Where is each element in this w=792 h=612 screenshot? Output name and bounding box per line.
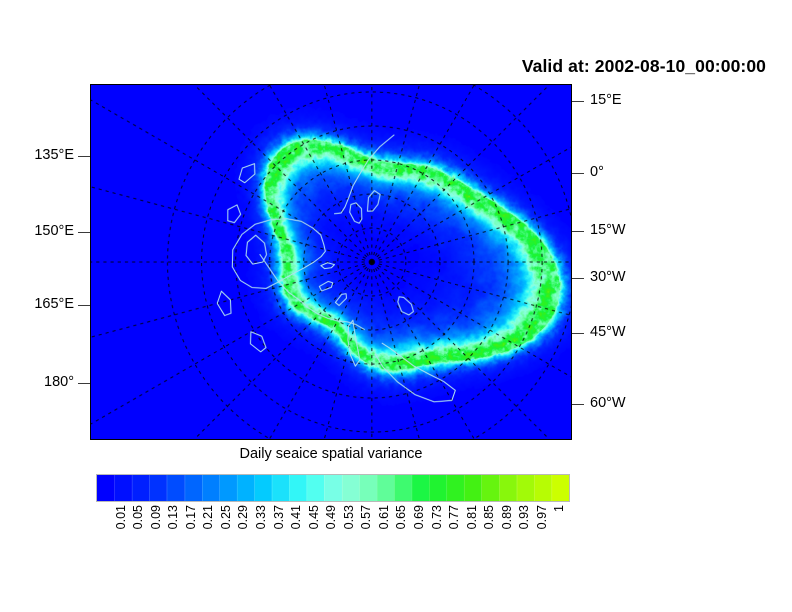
axis-tick-right-5	[572, 404, 584, 405]
colorbar-tick-0: 0.01	[114, 505, 128, 529]
colorbar-tick-11: 0.45	[307, 505, 321, 529]
colorbar	[96, 474, 570, 502]
axis-tick-right-2	[572, 231, 584, 232]
colorbar-tick-15: 0.61	[377, 505, 391, 529]
colorbar-tick-24: 0.97	[535, 505, 549, 529]
axis-tick-left-1	[78, 232, 90, 233]
colorbar-tick-16: 0.65	[394, 505, 408, 529]
axis-tick-left-2	[78, 305, 90, 306]
axis-tick-right-4	[572, 333, 584, 334]
colorbar-tick-4: 0.17	[184, 505, 198, 529]
axis-label-right-3: 30°W	[590, 269, 626, 285]
page-title: Valid at: 2002-08-10_00:00:00	[0, 56, 766, 77]
colorbar-tick-17: 0.69	[412, 505, 426, 529]
axis-label-right-4: 45°W	[590, 324, 626, 340]
colorbar-tick-21: 0.85	[482, 505, 496, 529]
seaice-variance-heatmap	[91, 85, 571, 439]
axis-tick-left-0	[78, 156, 90, 157]
axis-label-right-0: 15°E	[590, 92, 622, 108]
axis-label-left-2: 165°E	[34, 296, 74, 312]
colorbar-tick-23: 0.93	[517, 505, 531, 529]
axis-label-left-0: 135°E	[34, 147, 74, 163]
axis-tick-left-3	[78, 383, 90, 384]
colorbar-tick-12: 0.49	[324, 505, 338, 529]
colorbar-tick-22: 0.89	[500, 505, 514, 529]
map-caption: Daily seaice spatial variance	[90, 446, 572, 462]
axis-tick-right-1	[572, 173, 584, 174]
colorbar-tick-5: 0.21	[201, 505, 215, 529]
colorbar-tick-19: 0.77	[447, 505, 461, 529]
colorbar-tick-1: 0.05	[131, 505, 145, 529]
colorbar-tick-14: 0.57	[359, 505, 373, 529]
axis-tick-right-0	[572, 101, 584, 102]
map-plot-area	[90, 84, 572, 440]
colorbar-tick-7: 0.29	[236, 505, 250, 529]
colorbar-tick-18: 0.73	[430, 505, 444, 529]
axis-tick-right-3	[572, 278, 584, 279]
colorbar-tick-labels: 0.010.050.090.130.170.210.250.290.330.37…	[96, 505, 570, 565]
colorbar-tick-20: 0.81	[465, 505, 479, 529]
axis-label-right-2: 15°W	[590, 222, 626, 238]
colorbar-tick-13: 0.53	[342, 505, 356, 529]
colorbar-tick-6: 0.25	[219, 505, 233, 529]
axis-label-right-1: 0°	[590, 164, 604, 180]
axis-label-left-3: 180°	[44, 374, 74, 390]
colorbar-tick-9: 0.37	[272, 505, 286, 529]
colorbar-tick-3: 0.13	[166, 505, 180, 529]
colorbar-tick-10: 0.41	[289, 505, 303, 529]
axis-label-left-1: 150°E	[34, 223, 74, 239]
colorbar-gradient	[96, 474, 570, 502]
colorbar-tick-2: 0.09	[149, 505, 163, 529]
colorbar-tick-8: 0.33	[254, 505, 268, 529]
colorbar-tick-25: 1	[552, 505, 566, 512]
axis-label-right-5: 60°W	[590, 395, 626, 411]
